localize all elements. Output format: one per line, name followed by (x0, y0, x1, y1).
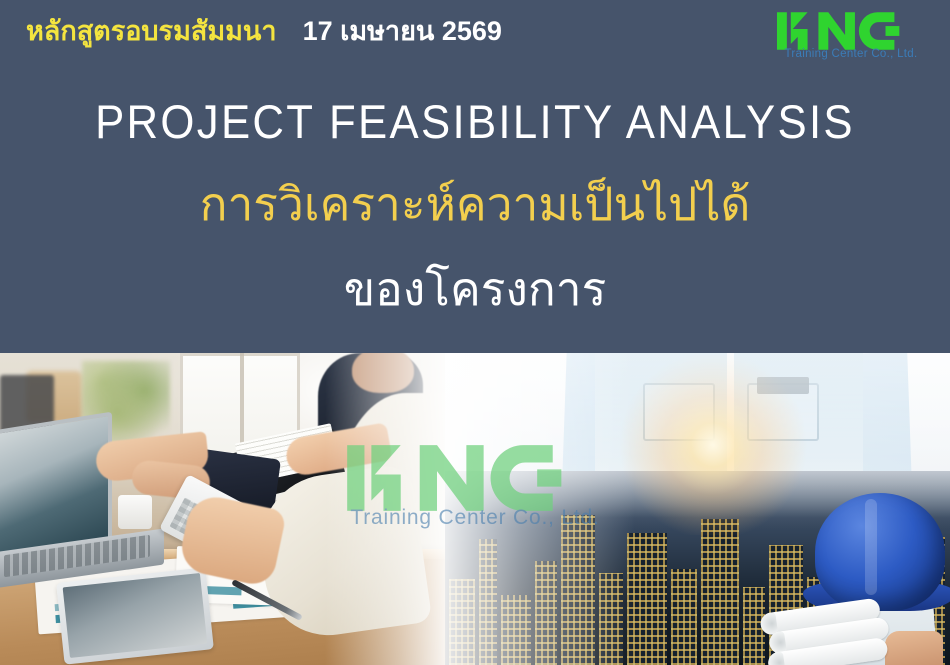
banner-background: หลักสูตรอบรมสัมมนา 17 เมษายน 2569 Traini… (0, 0, 950, 353)
banner-header-line: หลักสูตรอบรมสัมมนา 17 เมษายน 2569 (26, 18, 502, 45)
knc-logo-mark (776, 9, 924, 53)
coffee-mug (118, 495, 152, 529)
photo-edge-light-blend (445, 353, 635, 665)
knc-logo: Training Center Co., Ltd. (776, 9, 924, 67)
photo-strip (0, 353, 950, 665)
page-title-thai-line2: ของโครงการ (0, 261, 950, 319)
page-title-english: PROJECT FEASIBILITY ANALYSIS (33, 96, 917, 148)
photo-edge-light-blend (325, 353, 445, 665)
course-date: 17 เมษายน 2569 (303, 18, 502, 45)
photo-engineer-city-double-exposure (445, 353, 950, 665)
knc-logo-tagline: Training Center Co., Ltd. (778, 49, 924, 61)
seminar-course-banner-slide: หลักสูตรอบรมสัมมนา 17 เมษายน 2569 Traini… (0, 0, 950, 665)
page-title-thai-line1: การวิเคราะห์ความเป็นไปได้ (0, 176, 950, 234)
course-label: หลักสูตรอบรมสัมมนา (26, 18, 277, 45)
photo-business-meeting (0, 353, 445, 665)
tablet-on-desk (56, 567, 214, 664)
